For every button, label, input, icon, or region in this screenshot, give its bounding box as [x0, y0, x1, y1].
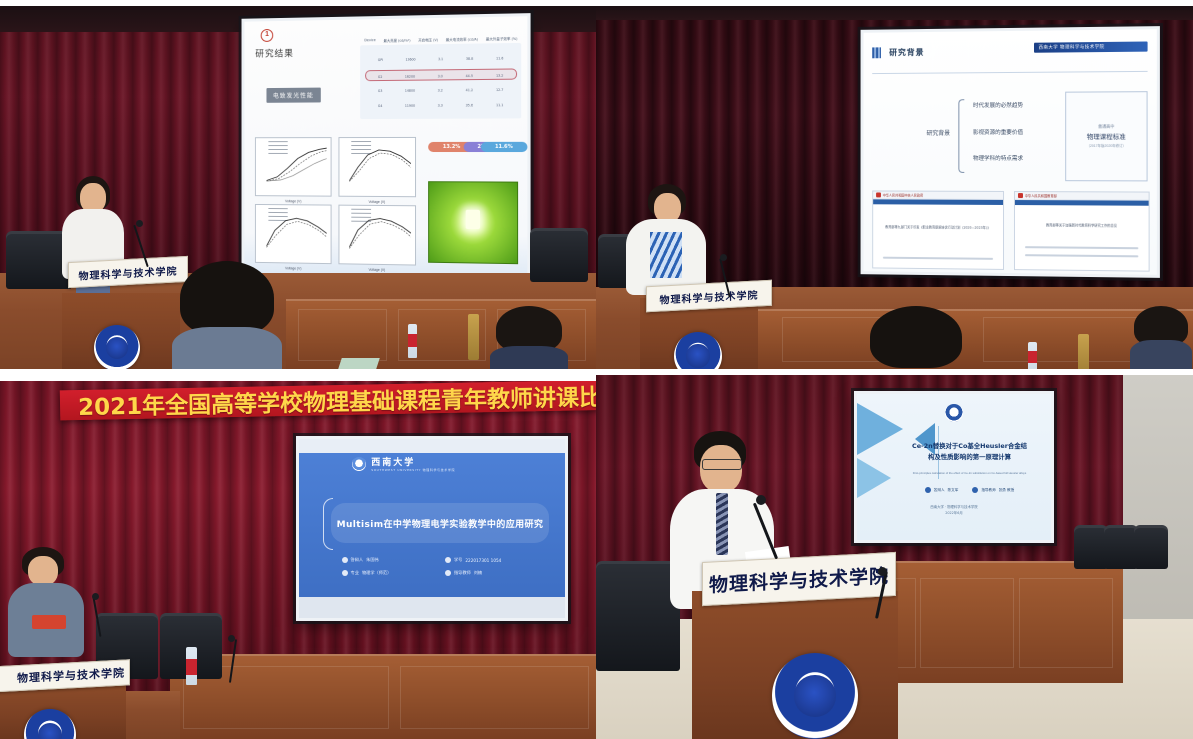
paper-document [338, 358, 380, 369]
national-emblem-icon [876, 192, 881, 197]
bullet-dot-icon [342, 570, 348, 576]
bullet-item: 影视资源的重要价值 [973, 128, 1023, 136]
cell: 11.6 [496, 57, 503, 61]
plot-curve [267, 212, 327, 250]
photo-collage-page: 1 研究结果 电致发光性能 Device 最大亮度 (cd/m²) 开启电压 (… [0, 0, 1193, 739]
projection-screen-tr: 研究背景 西南大学 物理科学与技术学院 研究背景 时代发展的必然趋势 影视资源的… [861, 26, 1160, 278]
photo-bottom-right: Ce-2n替换对于Co基全Heusler合金结 构及性质影响的第一原理计算 Fi… [596, 375, 1193, 739]
cell: 14800 [405, 89, 415, 93]
decor-triangle-icon [857, 403, 903, 455]
microphone-head [92, 593, 99, 600]
microphone-head [878, 567, 887, 576]
university-seal-icon [945, 404, 963, 422]
eyeglasses-icon [702, 459, 742, 470]
shirt-graphic [650, 232, 682, 278]
national-emblem-icon [1018, 193, 1023, 198]
doc-navbar [873, 199, 1003, 205]
water-bottle [1028, 342, 1037, 369]
stat-pill: 11.6% [481, 142, 528, 152]
slide-footer-line-2: 2022年6月 [857, 511, 1051, 517]
slide-step-number: 1 [261, 29, 274, 42]
ceiling-band [596, 6, 1193, 20]
cell: 16200 [405, 74, 415, 78]
meta-item: 学号 222017301 1054 [445, 557, 538, 563]
podium-tl [62, 293, 180, 369]
cell: 41.2 [466, 88, 473, 92]
stage-chair [1074, 525, 1108, 569]
plot-panel: Voltage (V) [338, 137, 416, 197]
plot-curve [350, 145, 412, 182]
audience-member [1130, 306, 1192, 369]
shirt-graphic [32, 615, 66, 629]
plot-xlabel: Voltage (V) [339, 267, 415, 272]
meta-value: 张勇 教授 [999, 488, 1015, 493]
slide-heusler-title: Ce-2n替换对于Co基全Heusler合金结 构及性质影响的第一原理计算 Fi… [857, 394, 1051, 540]
audience-member [864, 306, 968, 369]
slide-research-background: 研究背景 西南大学 物理科学与技术学院 研究背景 时代发展的必然趋势 影视资源的… [863, 29, 1156, 275]
slide-meta-grid: 答辩人 朱国伟 学号 222017301 1054 [342, 557, 539, 576]
plot-panel: Voltage (V) [338, 205, 416, 266]
hair [180, 261, 274, 335]
bullet-dot-icon [972, 487, 978, 493]
auditorium-scene-tr: 研究背景 西南大学 物理科学与技术学院 研究背景 时代发展的必然趋势 影视资源的… [596, 6, 1193, 369]
projection-screen-bl: 西南大学 SOUTHWEST UNIVERSITY 物理科学与技术学院 Mult… [296, 436, 568, 621]
device-photo [429, 182, 518, 265]
bullet-item: 物理学科的特点需求 [973, 154, 1023, 162]
screen-inner-bl: 西南大学 SOUTHWEST UNIVERSITY 物理科学与技术学院 Mult… [299, 439, 565, 618]
university-name: 西南大学 [371, 455, 455, 468]
meta-value: 222017301 1054 [465, 558, 501, 563]
slide-lead-label: 研究背景 [927, 128, 951, 137]
bottle-label [186, 659, 197, 675]
slide-title-line-2: 构及性质影响的第一原理计算 [900, 452, 1040, 464]
doc-header-title: 中华人民共和国教育部 [1025, 193, 1057, 198]
meta-label: 答辩人 [351, 557, 364, 563]
screen-inner-tl: 1 研究结果 电致发光性能 Device 最大亮度 (cd/m²) 开启电压 (… [244, 16, 527, 284]
bullet-item: 时代发展的必然趋势 [973, 101, 1023, 109]
stage-chair [1104, 525, 1138, 569]
projection-screen-tl: 1 研究结果 电致发光性能 Device 最大亮度 (cd/m²) 开启电压 (… [242, 13, 531, 287]
slide-title: Multisim在中学物理电学实验教学中的应用研究 [337, 517, 544, 530]
microphone-head [720, 254, 727, 261]
bullet-dot-icon [925, 487, 931, 493]
cell: 3.3 [438, 103, 443, 107]
screen-inner-br: Ce-2n替换对于Co基全Heusler合金结 构及性质影响的第一原理计算 Fi… [857, 394, 1051, 540]
water-bottle [408, 324, 417, 358]
school-emblem [674, 332, 722, 369]
cell: 3.1 [438, 58, 443, 62]
meta-item: 专业 物理学（师范） [342, 570, 435, 576]
photo-bottom-left: 2021年全国高等学校物理基础课程青年教师讲课比 西南大学 SOUTHWEST … [0, 381, 596, 739]
slide-title-line-1: Ce-2n替换对于Co基全Heusler合金结 [900, 441, 1040, 453]
results-table: Device 最大亮度 (cd/m²) 开启电压 (V) 最大电流效率 (cd/… [360, 43, 521, 119]
torso [172, 327, 282, 369]
policy-doc-screenshot: 中华人民共和国教育部 教育部等关于加强新时代教育科学研究工作的意见 [1014, 191, 1150, 272]
university-logo-group: 西南大学 SOUTHWEST UNIVERSITY 物理科学与技术学院 [352, 455, 455, 472]
auditorium-scene-tl: 1 研究结果 电致发光性能 Device 最大亮度 (cd/m²) 开启电压 (… [0, 6, 596, 369]
table-header-cell: 开启电压 (V) [418, 37, 438, 42]
policy-doc-screenshot: 中华人民共和国中央人民政府 教育部等九部门关于印发《职业教育提质培优行动计划（2… [872, 190, 1004, 270]
meta-value: 刘楠 [474, 570, 482, 576]
bullet-dot-icon [445, 557, 451, 563]
meta-item: 答辩人 朱国伟 [342, 557, 435, 563]
audience-member [490, 306, 568, 369]
plot-xlabel: Voltage (V) [256, 199, 330, 204]
hair [870, 306, 962, 368]
meta-label: 学号 [454, 557, 462, 563]
cell: G4 [378, 104, 382, 108]
face [28, 556, 58, 586]
podium-br [692, 591, 898, 739]
collage-grid: 1 研究结果 电致发光性能 Device 最大亮度 (cd/m²) 开启电压 (… [0, 0, 1193, 739]
decor-triangle-icon [857, 458, 891, 498]
meta-value: 物理学（师范） [362, 570, 391, 576]
cell: 11.1 [496, 103, 503, 107]
slide-research-results: 1 研究结果 电致发光性能 Device 最大亮度 (cd/m²) 开启电压 (… [244, 16, 527, 284]
photo-top-left: 1 研究结果 电致发光性能 Device 最大亮度 (cd/m²) 开启电压 (… [0, 6, 596, 369]
table-header-cell: Device [364, 38, 376, 43]
presenter-bl [8, 547, 86, 667]
cell: GPI [378, 58, 383, 62]
meta-value: 陈文军 [948, 488, 959, 493]
table-row: GPI 13600 3.1 38.8 11.6 [367, 57, 515, 63]
card-line-3: （2017年版2020年修订） [1086, 143, 1125, 148]
university-seal-icon [352, 457, 366, 471]
card-line-2: 物理课程标准 [1087, 132, 1126, 141]
plot-panel: Voltage (V) [255, 137, 331, 196]
meta-item: 指导教师 张勇 教授 [972, 487, 1014, 493]
bullet-dot-icon [445, 570, 451, 576]
slide-meta-row: 答辩人 陈文军 指导教师 张勇 教授 [904, 487, 1036, 493]
cell: 35.6 [466, 103, 473, 107]
table-header-cell: 最大亮度 (cd/m²) [383, 38, 410, 43]
meta-label: 专业 [351, 570, 359, 576]
doc-body-text: 教育部等九部门关于印发《职业教育提质培优行动计划（2020—2023年）》 [883, 225, 992, 231]
table-header-cell: 最大外量子效率 (%) [486, 36, 518, 42]
slide-chip-label: 电致发光性能 [266, 88, 320, 103]
title-underline [872, 71, 1148, 74]
meta-item: 答辩人 陈文军 [925, 487, 959, 493]
meta-label: 答辩人 [934, 488, 945, 493]
slide-title: Ce-2n替换对于Co基全Heusler合金结 构及性质影响的第一原理计算 [900, 441, 1040, 464]
microphone-head [756, 495, 766, 505]
plot-curve [267, 145, 327, 182]
table-header-row: Device 最大亮度 (cd/m²) 开启电压 (V) 最大电流效率 (cd/… [360, 36, 521, 44]
cell: G2 [378, 75, 382, 79]
meta-label: 指导教师 [981, 488, 995, 493]
university-name-en: SOUTHWEST UNIVERSITY 物理科学与技术学院 [371, 468, 455, 472]
school-emblem [94, 325, 140, 369]
cell: 44.5 [466, 74, 473, 78]
card-line-1: 普通高中 [1098, 124, 1114, 130]
university-logo: 西南大学 物理科学与技术学院 [1034, 42, 1147, 53]
screen-inner-tr: 研究背景 西南大学 物理科学与技术学院 研究背景 时代发展的必然趋势 影视资源的… [863, 29, 1156, 275]
plot-panel: Voltage (V) [255, 204, 331, 264]
thermos-cup [1078, 334, 1089, 369]
projection-screen-br: Ce-2n替换对于Co基全Heusler合金结 构及性质影响的第一原理计算 Fi… [854, 391, 1054, 543]
cell: 3.2 [438, 89, 443, 93]
torso [490, 346, 568, 369]
meta-item: 指导教师 刘楠 [445, 570, 538, 576]
slide-title-box: Multisim在中学物理电学实验教学中的应用研究 [331, 503, 549, 542]
stage-chair [1134, 525, 1168, 569]
cell: 13600 [405, 58, 415, 62]
meta-value: 朱国伟 [366, 557, 379, 563]
cell: 13.2 [496, 73, 503, 77]
photo-top-right: 研究背景 西南大学 物理科学与技术学院 研究背景 时代发展的必然趋势 影视资源的… [596, 6, 1193, 369]
school-emblem [772, 653, 858, 739]
table-row: G3 14800 3.2 41.2 12.7 [367, 88, 515, 93]
doc-body-text: 教育部等关于加强新时代教育科学研究工作的意见 [1025, 223, 1138, 229]
emission-spot [466, 210, 480, 229]
title-accent-bar [872, 47, 881, 58]
bottle-label [408, 334, 417, 347]
slide-title: 研究背景 [889, 46, 924, 57]
slide-footer: 西南大学 · 物理科学与技术学院 2022年6月 [857, 505, 1051, 517]
plot-xlabel: Voltage (V) [339, 199, 415, 204]
plot-curve [350, 213, 412, 251]
auditorium-scene-bl: 2021年全国高等学校物理基础课程青年教师讲课比 西南大学 SOUTHWEST … [0, 381, 596, 739]
cell: G3 [378, 89, 382, 93]
standards-card: 普通高中 物理课程标准 （2017年版2020年修订） [1065, 91, 1148, 181]
torso [1130, 340, 1192, 369]
slide-multisim-title: 西南大学 SOUTHWEST UNIVERSITY 物理科学与技术学院 Mult… [299, 439, 565, 618]
stage-desk-bl [170, 654, 596, 739]
brace-bracket [958, 99, 964, 173]
microphone-head [136, 220, 143, 227]
bottle-label [1028, 351, 1037, 363]
doc-header-title: 中华人民共和国中央人民政府 [883, 192, 923, 197]
cell: 3.0 [438, 74, 443, 78]
cell: 38.8 [466, 57, 473, 61]
slide-title: 研究结果 [255, 47, 294, 60]
school-emblem [24, 709, 76, 739]
microphone-head [228, 635, 235, 642]
bullet-dot-icon [342, 557, 348, 563]
audience-desk-tr [756, 309, 1193, 369]
doc-navbar [1015, 200, 1149, 206]
thermos-cup [468, 314, 479, 360]
auditorium-scene-br: Ce-2n替换对于Co基全Heusler合金结 构及性质影响的第一原理计算 Fi… [596, 375, 1193, 739]
table-row: G4 11900 3.3 35.6 11.1 [367, 103, 515, 108]
slide-subtitle-en: First-principles calculation of the effe… [904, 471, 1036, 475]
meta-label: 指导教师 [454, 570, 471, 576]
table-header-cell: 最大电流效率 (cd/A) [446, 37, 478, 43]
water-bottle [186, 647, 197, 685]
stage-chair [530, 228, 588, 282]
cell: 11900 [405, 104, 415, 108]
necktie [716, 493, 728, 555]
cell: 12.7 [496, 88, 503, 92]
audience-member [172, 261, 282, 369]
